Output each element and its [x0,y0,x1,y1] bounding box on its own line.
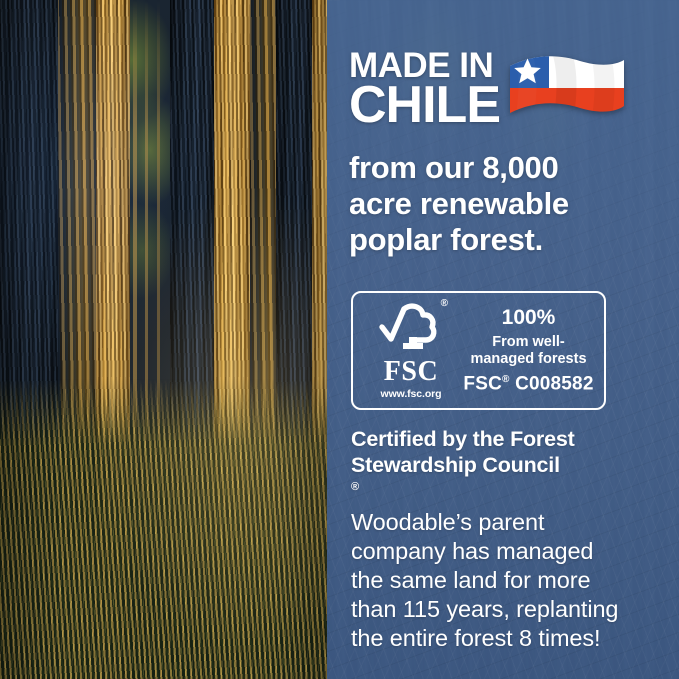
fsc-code-number: C008582 [515,373,594,394]
fsc-licence-code: FSC® C008582 [461,374,596,395]
certified-line-2-text: Stewardship Council [351,452,661,478]
certified-registered-mark: ® [351,481,359,493]
body-line-5: the entire forest 8 times! [351,624,665,653]
subheadline-line-1: from our 8,000 [349,150,665,186]
subheadline-line-3: poplar forest. [349,222,665,258]
fsc-certification-badge: ® FSC www.fsc.org 100% From well- manage… [351,291,606,410]
fsc-claim-block: 100% From well- managed forests FSC® C00… [459,306,596,396]
fsc-claim-line-1: From well- [461,334,596,351]
certified-line-2: Stewardship Council® [351,452,661,504]
fsc-claim-line-2: managed forests [461,351,596,368]
fsc-claim-text: From well- managed forests [461,334,596,368]
body-line-3: the same land for more [351,566,665,595]
subheadline-line-2: acre renewable [349,186,665,222]
body-paragraph: Woodable’s parent company has managed th… [351,508,665,653]
fsc-code-prefix: FSC [463,373,502,394]
headline-line-chile: CHILE [349,81,500,130]
fsc-wordmark: FSC [384,358,438,386]
certified-heading: Certified by the Forest Stewardship Coun… [351,426,661,505]
fsc-registered-mark: ® [441,299,448,309]
fsc-percent: 100% [461,306,596,329]
fsc-logo-block: ® FSC www.fsc.org [363,301,459,400]
body-line-1: Woodable’s parent [351,508,665,537]
chile-flag-icon [506,52,628,135]
panel-content: MADE IN CHILE [327,0,679,679]
made-in-chile-infographic-card: MADE IN CHILE [0,0,679,679]
subheadline: from our 8,000 acre renewable poplar for… [349,150,665,258]
headline-row: MADE IN CHILE [349,50,669,135]
body-line-2: company has managed [351,537,665,566]
headline-words: MADE IN CHILE [349,50,500,130]
poplar-forest-photo [0,0,340,679]
photo-vignette [0,0,340,679]
blue-info-panel: MADE IN CHILE [327,0,679,679]
fsc-url[interactable]: www.fsc.org [381,389,442,400]
fsc-tree-checkmark-icon: ® [378,301,444,357]
body-line-4: than 115 years, replanting [351,595,665,624]
fsc-code-registered: ® [502,374,510,385]
certified-line-1: Certified by the Forest [351,426,661,452]
